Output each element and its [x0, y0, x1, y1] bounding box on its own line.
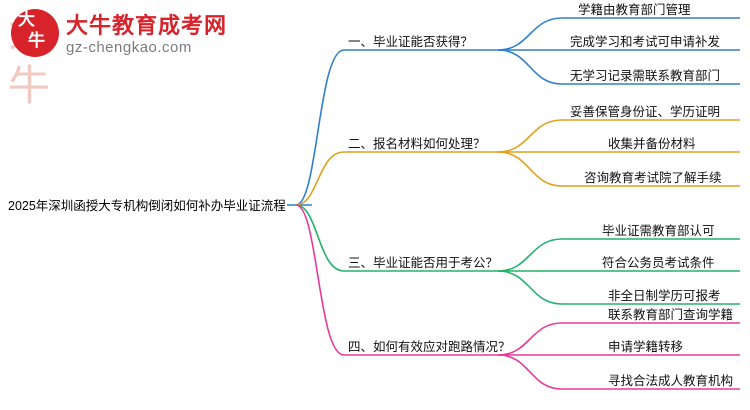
mindmap-root-label: 2025年深圳函授大专机构倒闭如何补办毕业证流程: [8, 198, 286, 214]
leaf-label-1-2[interactable]: 完成学习和考试可申请补发: [570, 34, 720, 50]
mindmap-canvas: 大牛 大 牛 大牛教育成考网 gz-chengkao.com 2025年深圳函授…: [0, 0, 750, 410]
leaf-label-3-2[interactable]: 符合公务员考试条件: [602, 255, 715, 271]
branch-label-4[interactable]: 四、如何有效应对跑路情况？: [348, 339, 511, 355]
leaf-label-2-3[interactable]: 咨询教育考试院了解手续: [584, 170, 722, 186]
logo-mark-bottom: 牛: [28, 31, 45, 51]
leaf-label-4-2[interactable]: 申请学籍转移: [608, 339, 683, 355]
bull-logo-icon: 大牛 大 牛: [8, 6, 62, 60]
branch-label-2[interactable]: 二、报名材料如何处理？: [348, 136, 486, 152]
leaf-label-3-1[interactable]: 毕业证需教育部认可: [602, 223, 715, 239]
leaf-label-1-1[interactable]: 学籍由教育部门管理: [578, 2, 691, 18]
site-logo[interactable]: 大牛 大 牛 大牛教育成考网 gz-chengkao.com: [8, 6, 204, 62]
leaf-label-2-1[interactable]: 妥善保管身份证、学历证明: [570, 104, 720, 120]
leaf-label-2-2[interactable]: 收集并备份材料: [608, 136, 696, 152]
leaf-label-4-1[interactable]: 联系教育部门查询学籍: [608, 307, 733, 323]
leaf-label-1-3[interactable]: 无学习记录需联系教育部门: [570, 68, 720, 84]
logo-name-en: gz-chengkao.com: [66, 39, 192, 56]
branch-label-3[interactable]: 三、毕业证能否用于考公？: [348, 255, 498, 271]
leaf-label-3-3[interactable]: 非全日制学历可报考: [608, 288, 721, 304]
logo-mark-top: 大: [18, 10, 35, 30]
leaf-label-4-3[interactable]: 寻找合法成人教育机构: [608, 373, 733, 389]
logo-name-cn: 大牛教育成考网: [66, 8, 227, 40]
branch-label-1[interactable]: 一、毕业证能否获得？: [348, 34, 473, 50]
